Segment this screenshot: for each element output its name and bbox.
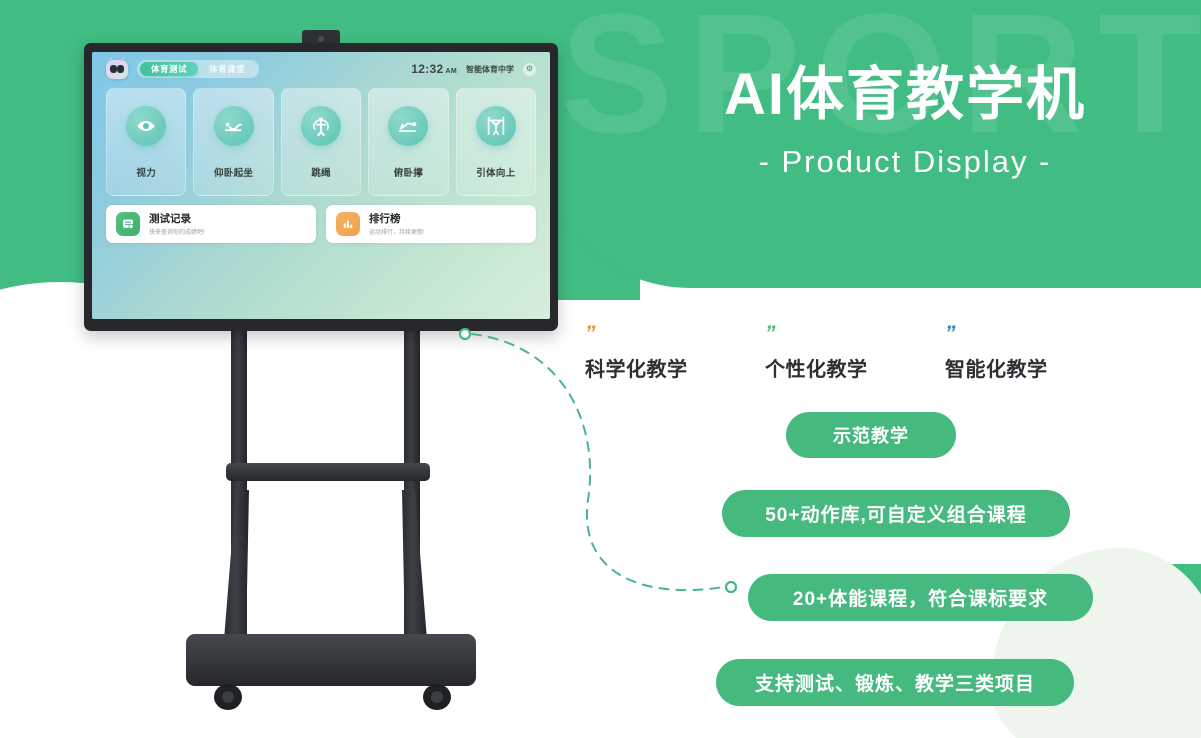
card-label: 仰卧起坐	[214, 165, 253, 179]
panel-leaderboard[interactable]: 排行榜 运动排行，持续更新!	[326, 205, 536, 243]
quote-mark-icon: ”	[945, 326, 1125, 342]
gear-icon[interactable]: ⚙	[523, 63, 536, 76]
pullup-icon	[476, 106, 516, 146]
panel-text: 测试记录 快来查询你的成绩吧!	[149, 213, 205, 236]
card-label: 跳绳	[311, 165, 331, 179]
connector-end-dot	[726, 582, 736, 592]
poster-canvas: SPORTS AI体育教学机 - Product Display -	[0, 0, 1201, 738]
screen-statusbar: 体育测试 体育课堂 12:32AM 智能体育中学 ⚙	[92, 52, 550, 86]
panel-test-records[interactable]: 测试记录 快来查询你的成绩吧!	[106, 205, 316, 243]
screen-tabs[interactable]: 体育测试 体育课堂	[137, 60, 259, 78]
card-pullup[interactable]: 引体向上	[456, 88, 536, 196]
tv-screen: 体育测试 体育课堂 12:32AM 智能体育中学 ⚙	[92, 52, 550, 319]
hero-headline: AI体育教学机 - Product Display -	[690, 60, 1120, 180]
tab-sports-class[interactable]: 体育课堂	[198, 62, 256, 76]
record-document-icon	[116, 212, 140, 236]
feature-intelligent: ” 智能化教学	[945, 326, 1125, 382]
pill-demo-teaching[interactable]: 示范教学	[786, 412, 956, 458]
background-white-rect	[0, 470, 660, 738]
card-label: 俯卧撑	[394, 165, 423, 179]
statusbar-right: 12:32AM 智能体育中学 ⚙	[411, 62, 536, 76]
clock-display: 12:32AM	[411, 62, 457, 76]
feature-title: 个性化教学	[765, 353, 945, 382]
clock-ampm: AM	[446, 68, 458, 75]
bar-chart-icon	[336, 212, 360, 236]
card-label: 引体向上	[476, 165, 515, 179]
jumprope-icon	[301, 106, 341, 146]
test-item-cards: 视力 仰卧起坐	[92, 88, 550, 196]
quote-mark-icon: ”	[585, 326, 765, 342]
feature-title: 智能化教学	[945, 353, 1125, 382]
situp-icon	[214, 106, 254, 146]
tab-sports-test[interactable]: 体育测试	[140, 62, 198, 76]
page-subtitle: - Product Display -	[690, 144, 1120, 180]
page-title: AI体育教学机	[690, 60, 1120, 130]
panel-subtitle: 快来查询你的成绩吧!	[149, 227, 205, 236]
card-situp[interactable]: 仰卧起坐	[193, 88, 273, 196]
feature-personalized: ” 个性化教学	[765, 326, 945, 382]
eye-icon	[126, 106, 166, 146]
panel-title: 测试记录	[149, 213, 205, 225]
card-vision[interactable]: 视力	[106, 88, 186, 196]
card-pushup[interactable]: 俯卧撑	[368, 88, 448, 196]
quote-mark-icon: ”	[765, 326, 945, 342]
panel-subtitle: 运动排行，持续更新!	[369, 227, 425, 236]
feature-title: 科学化教学	[585, 353, 765, 382]
pill-three-project-types[interactable]: 支持测试、锻炼、教学三类项目	[716, 659, 1074, 706]
school-name: 智能体育中学	[466, 64, 514, 75]
pill-fitness-courses[interactable]: 20+体能课程，符合课标要求	[748, 574, 1093, 621]
card-jumprope[interactable]: 跳绳	[281, 88, 361, 196]
screen-shortcut-panels: 测试记录 快来查询你的成绩吧! 排	[92, 205, 550, 243]
feature-headings: ” 科学化教学 ” 个性化教学 ” 智能化教学	[585, 326, 1125, 382]
panel-title: 排行榜	[369, 213, 425, 225]
card-label: 视力	[136, 165, 156, 179]
pill-action-library[interactable]: 50+动作库,可自定义组合课程	[722, 490, 1070, 537]
panel-text: 排行榜 运动排行，持续更新!	[369, 213, 425, 236]
tv-bezel: 体育测试 体育课堂 12:32AM 智能体育中学 ⚙	[84, 43, 558, 331]
pushup-icon	[388, 106, 428, 146]
clock-time: 12:32	[411, 62, 443, 76]
feature-scientific: ” 科学化教学	[585, 326, 765, 382]
robot-avatar-icon	[106, 60, 128, 79]
